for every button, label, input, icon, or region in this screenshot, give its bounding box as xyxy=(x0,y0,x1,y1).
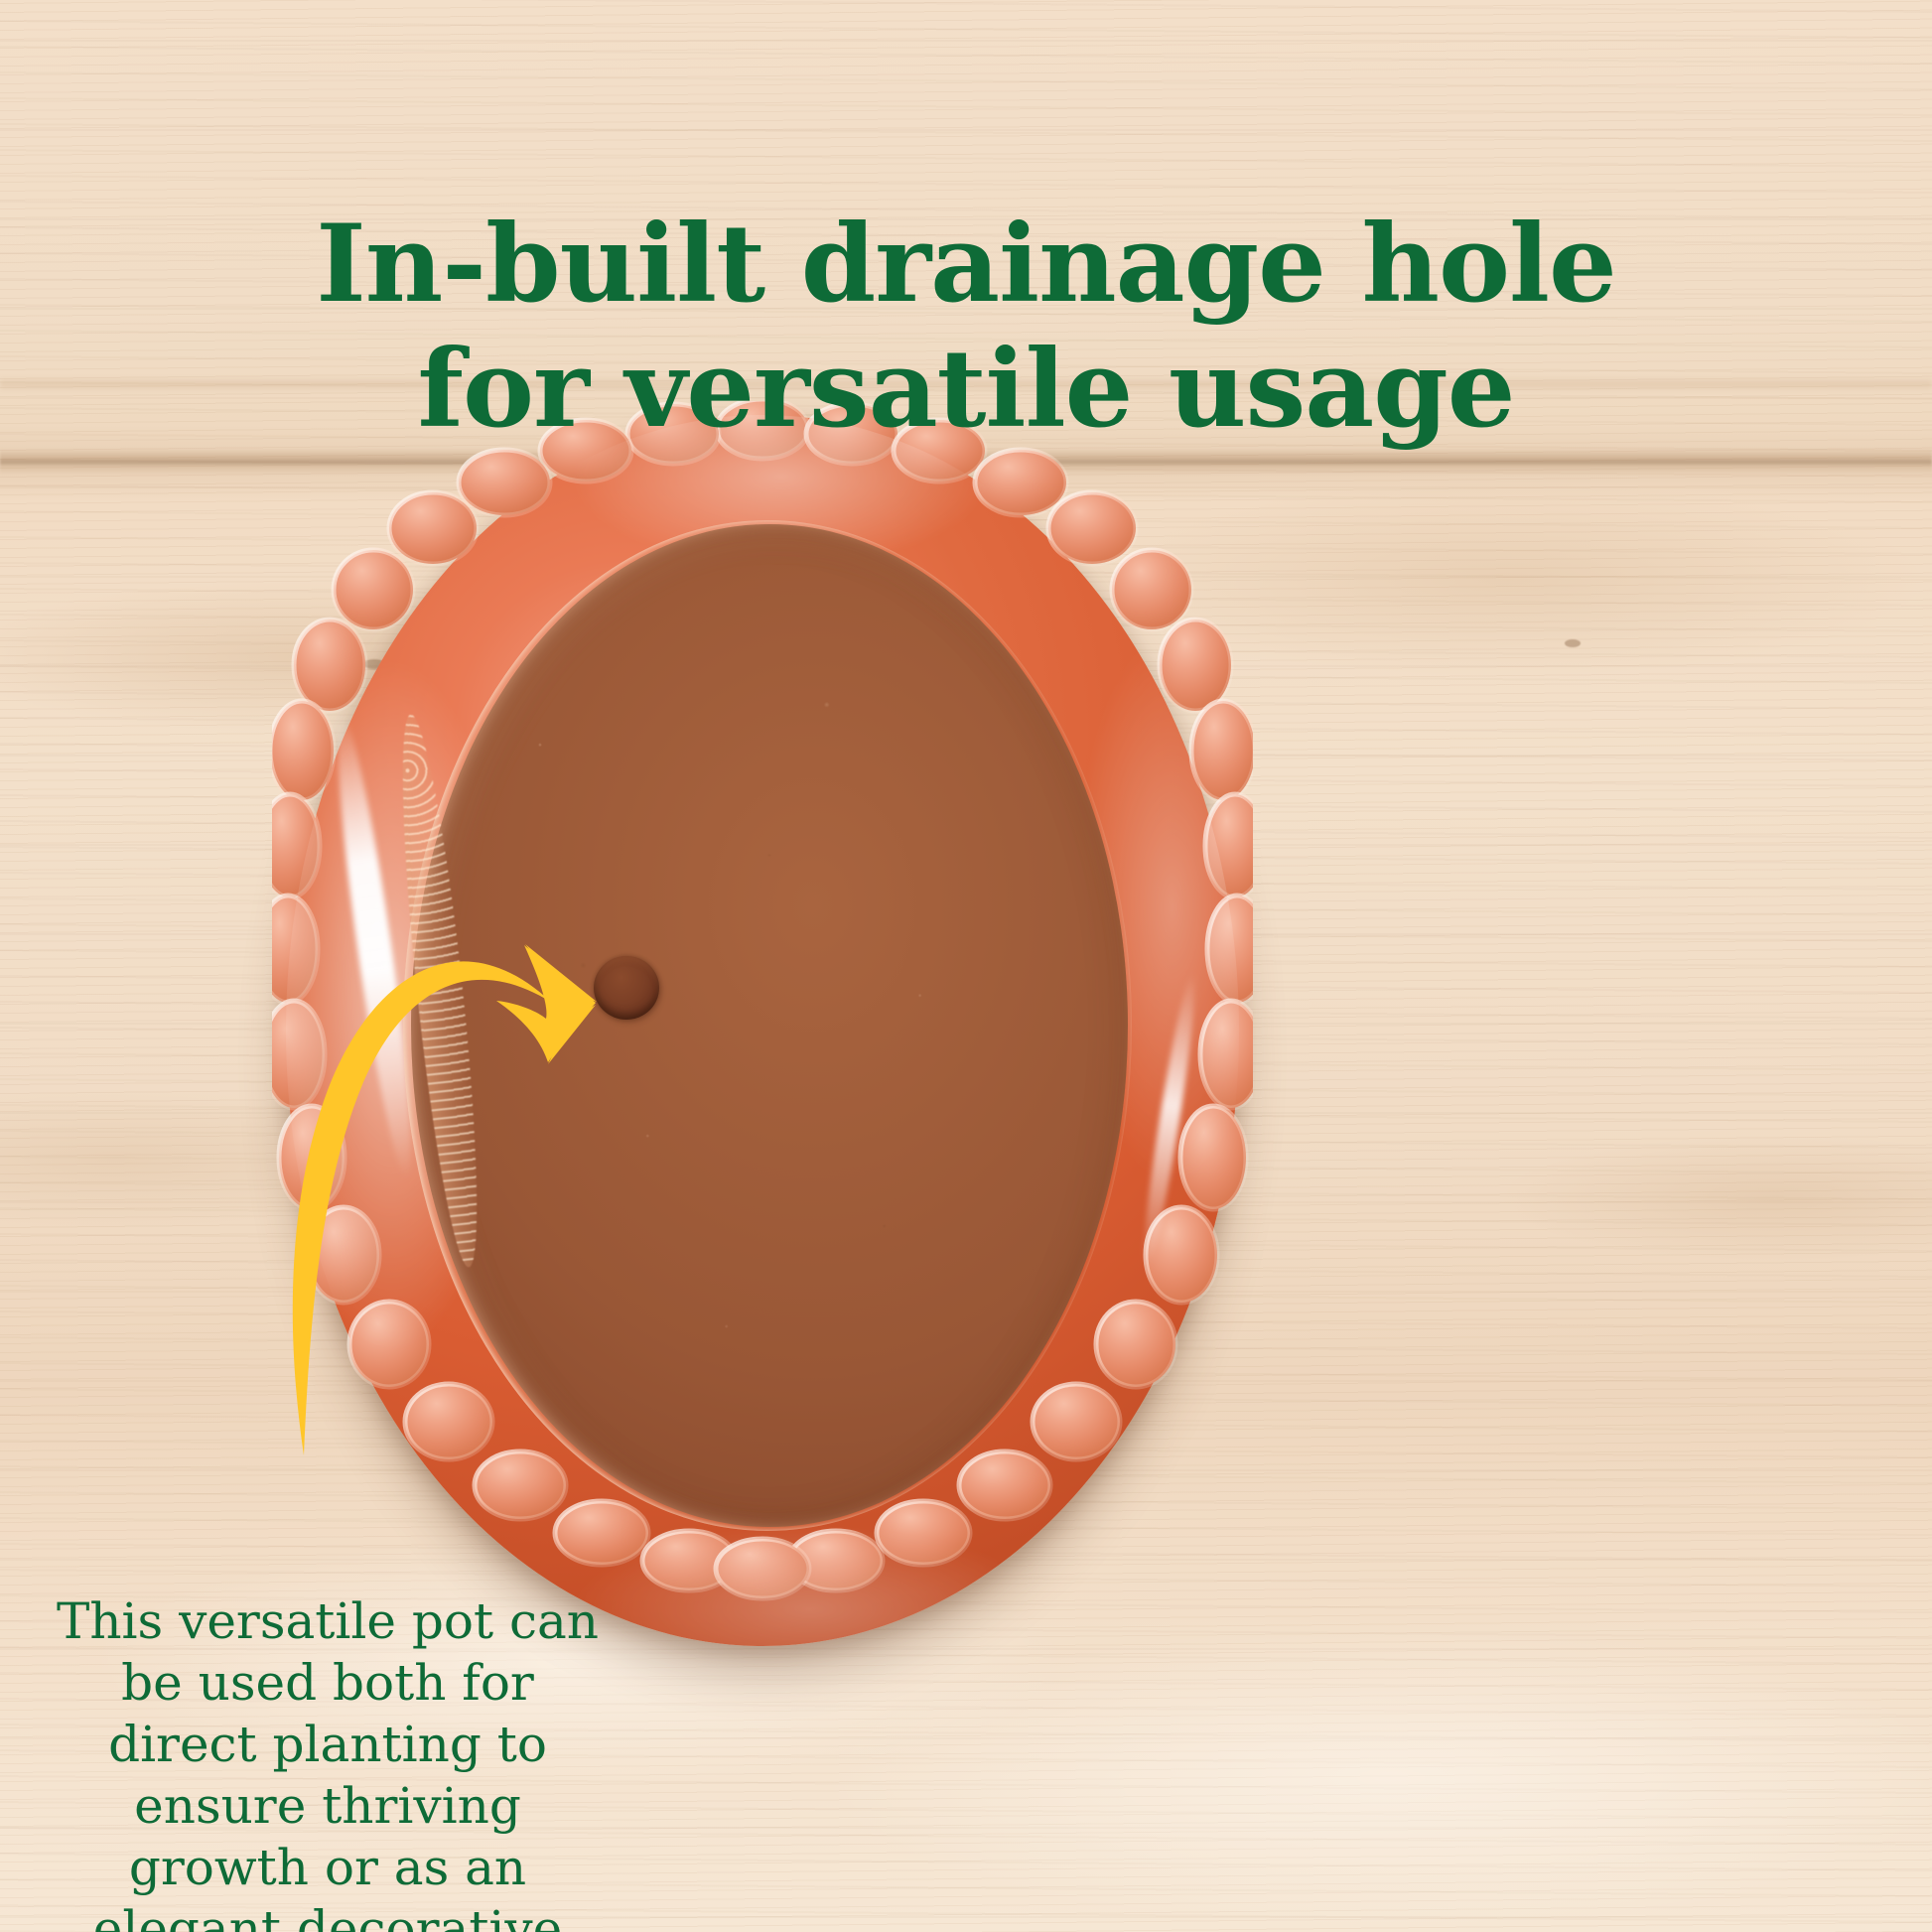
product-feature-graphic: In-built drainage hole for versatile usa… xyxy=(0,0,1932,1932)
clay-speckle-texture xyxy=(411,524,1128,1527)
pot-terracotta-base xyxy=(411,524,1128,1527)
wood-knot xyxy=(1565,639,1581,647)
headline-line-1: In-built drainage hole xyxy=(129,203,1803,327)
feature-caption: This versatile pot can be used both for … xyxy=(40,1590,616,1932)
plant-pot xyxy=(286,415,1239,1664)
drainage-hole xyxy=(594,956,659,1020)
headline-line-2: for versatile usage xyxy=(129,328,1803,452)
page-title: In-built drainage hole for versatile usa… xyxy=(0,203,1932,452)
